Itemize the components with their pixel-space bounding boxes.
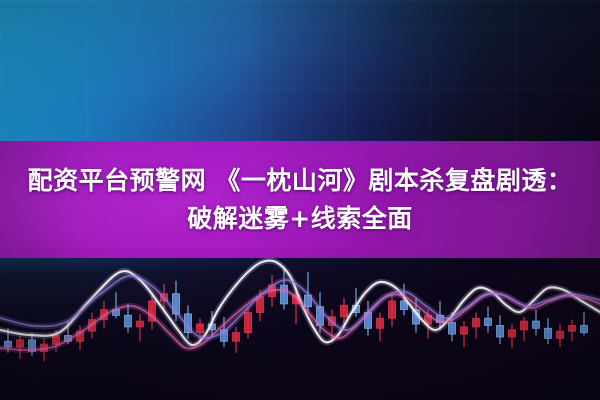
- headline-line-1: 配资平台预警网 《一枕山河》剧本杀复盘剧透：: [28, 162, 573, 200]
- headline-line-2: 破解迷雾+线索全面: [187, 200, 412, 238]
- promo-banner: 配资平台预警网 《一枕山河》剧本杀复盘剧透： 破解迷雾+线索全面: [0, 0, 600, 400]
- title-band: 配资平台预警网 《一枕山河》剧本杀复盘剧透： 破解迷雾+线索全面: [0, 141, 600, 258]
